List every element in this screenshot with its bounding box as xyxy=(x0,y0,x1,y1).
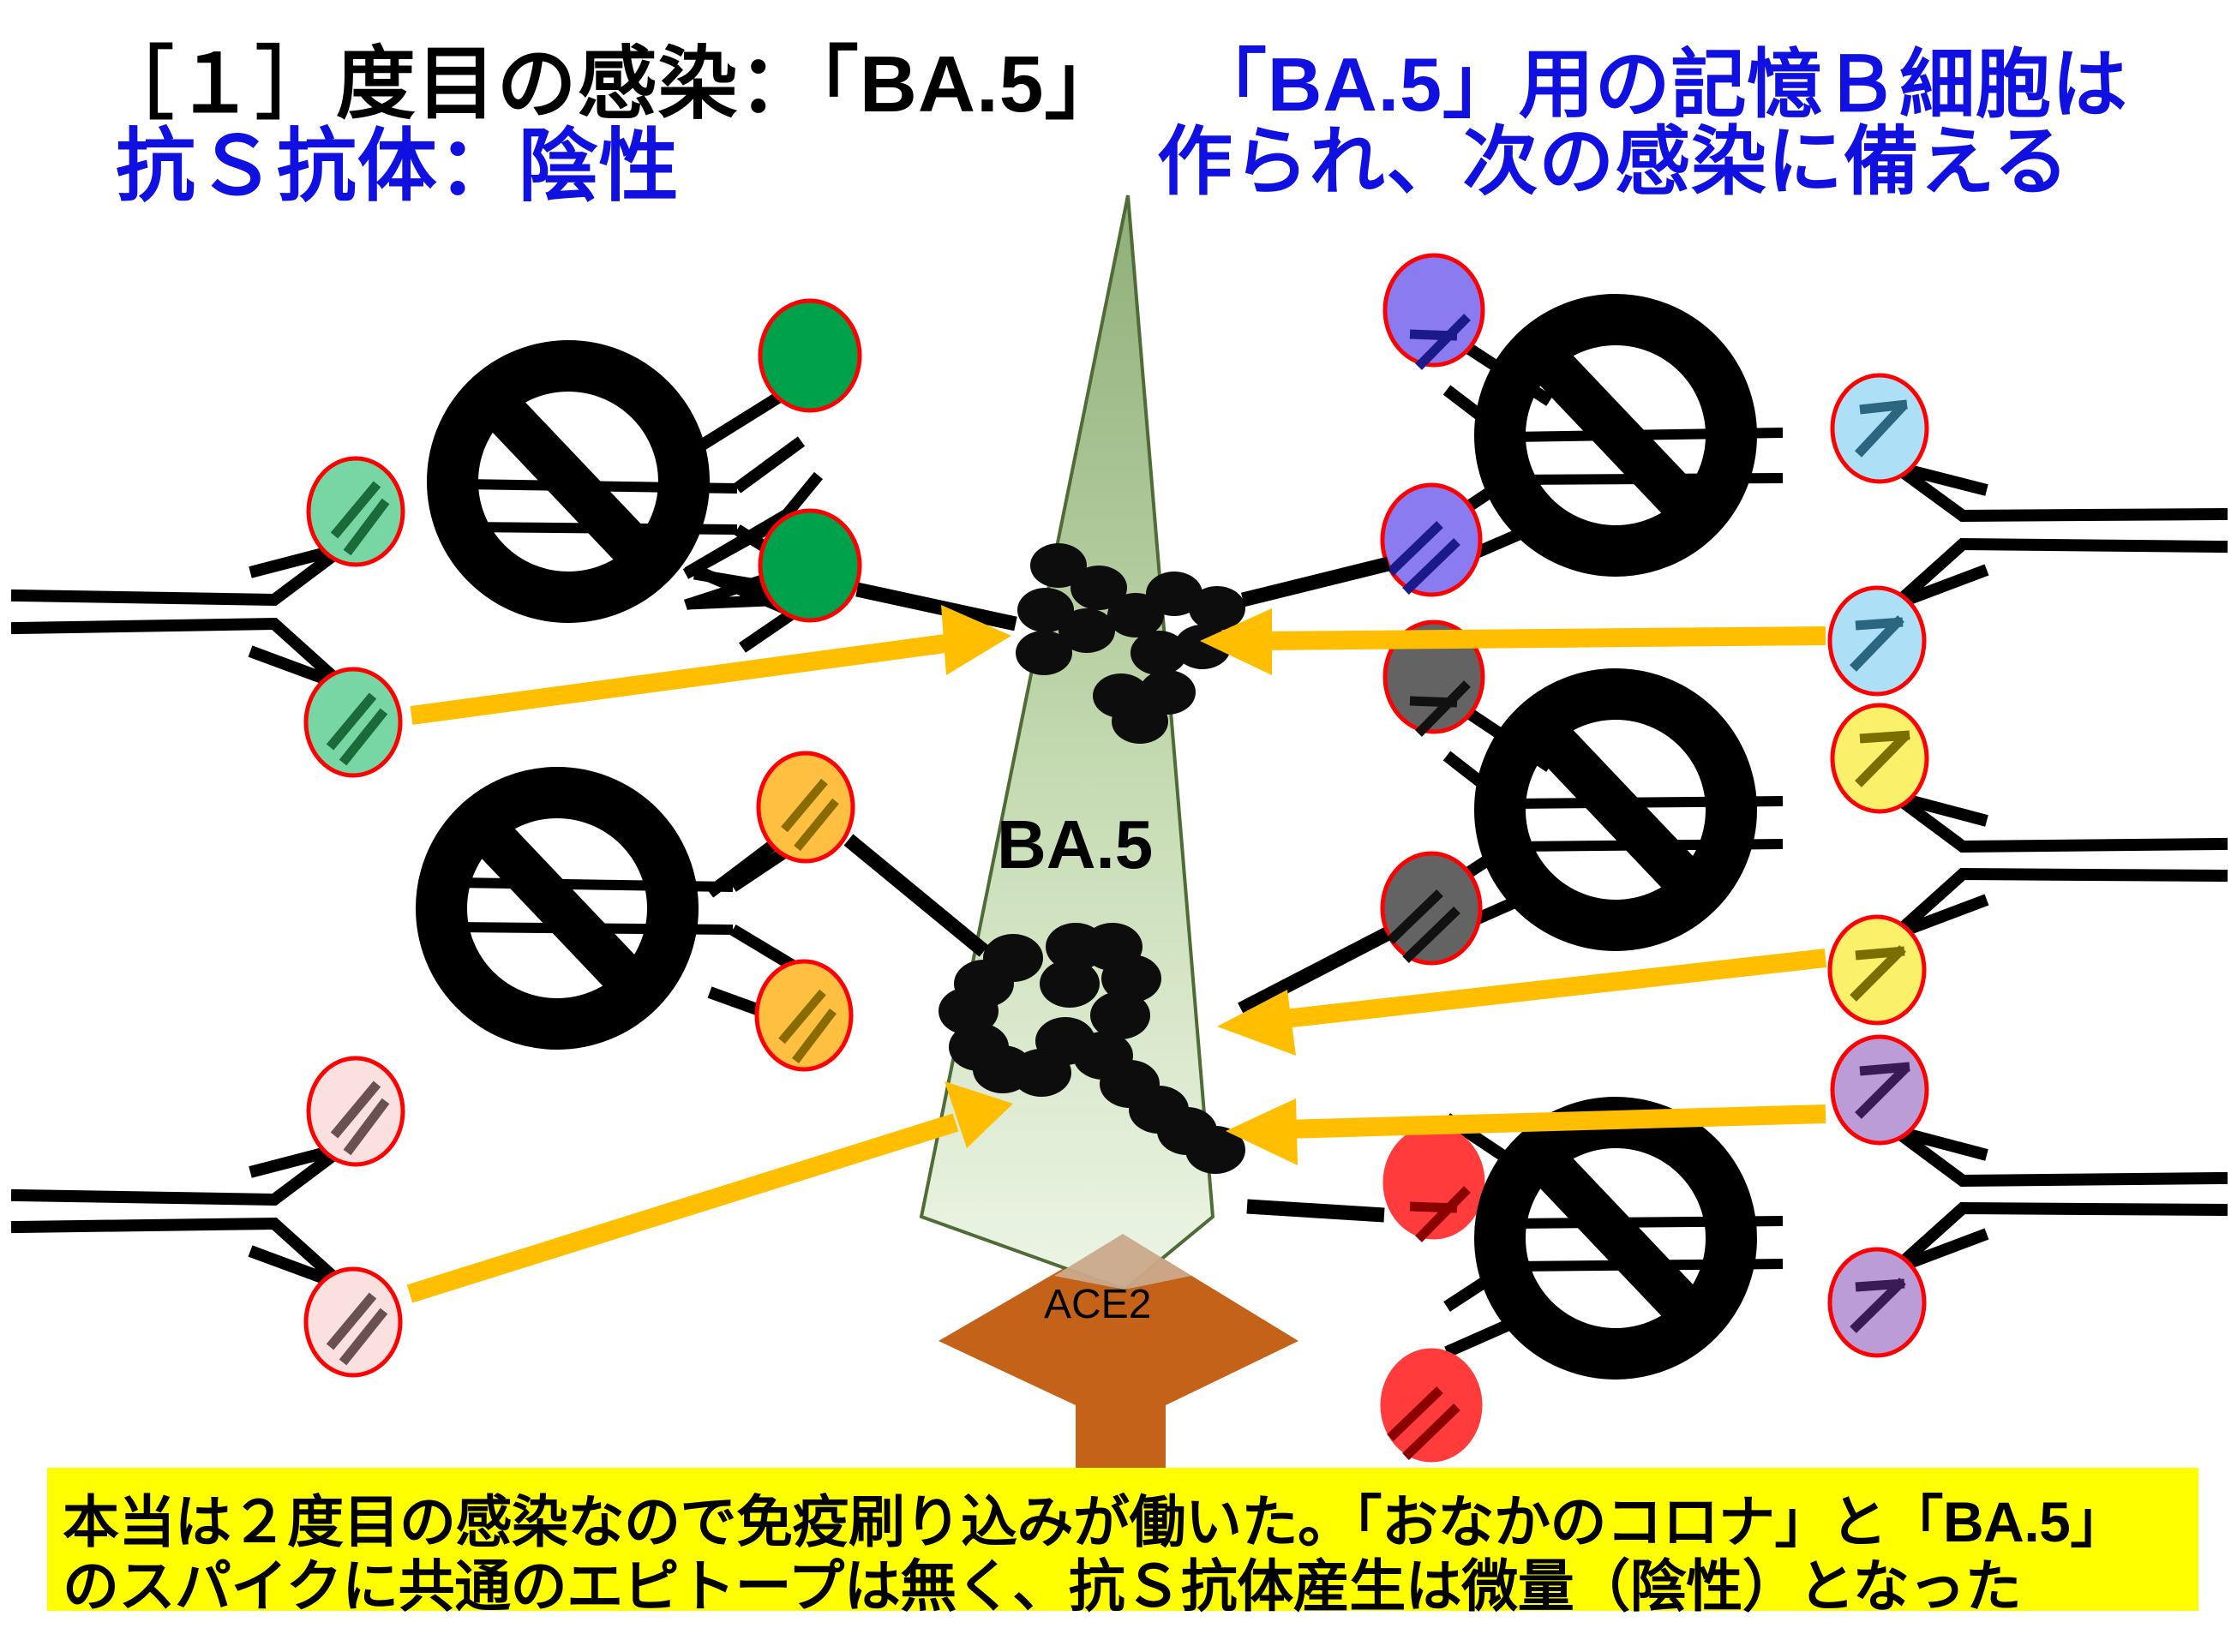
arrow-left-upper xyxy=(411,605,1011,715)
antibody-right-purple-free[interactable] xyxy=(1830,1037,2222,1356)
caption-banner: 本当は２度目の感染なので免疫刷り込みが働いた。「おなかのコロナ」と「BA.5」 … xyxy=(47,1468,2198,1611)
prohibition-sign xyxy=(441,793,673,1024)
arrow-left-lower xyxy=(410,1081,1013,1294)
slide-canvas: ［１］度目の感染：「BA.5」 抗Ｓ抗体：陰性 「BA.5」用の記憶Ｂ細胞は 作… xyxy=(0,0,2237,1652)
caption-line-2: のスパイクに共通のエピトープは無く、抗Ｓ抗体産生は微量（陰性）となった xyxy=(63,1541,2021,1623)
antibody-right-violet[interactable] xyxy=(1243,255,1783,600)
antibody-left-orange[interactable] xyxy=(441,753,984,1069)
page-subtitle: 抗Ｓ抗体：陰性 xyxy=(116,101,680,217)
antibody-right-skyblue-free[interactable] xyxy=(1830,375,2222,694)
antibody-right-yellow-free[interactable] xyxy=(1830,705,2222,1023)
arrow-right-upper xyxy=(1200,608,1826,675)
antibody-tip-ellipse xyxy=(1382,1350,1480,1460)
antibody-right-red[interactable] xyxy=(1247,1118,1783,1460)
antibody-tip-ellipse xyxy=(760,511,860,620)
prohibition-sign xyxy=(1500,1122,1731,1354)
antibody-tip-ellipse xyxy=(760,301,860,410)
spike-variant-label: BA.5 xyxy=(997,805,1153,884)
antibody-left-pink-free[interactable] xyxy=(17,1058,403,1375)
antibody-left-mint-free[interactable] xyxy=(17,458,403,775)
antibody-tip-ellipse xyxy=(1382,485,1480,595)
antibody-right-gray[interactable] xyxy=(1241,622,1783,1009)
prohibition-sign xyxy=(1500,694,1731,925)
antibody-tip-ellipse xyxy=(1382,853,1480,963)
callout-line-2: 作られ、次の感染に備える xyxy=(1157,101,2070,210)
ace2-receptor-label: ACE2 xyxy=(1044,1281,1151,1328)
